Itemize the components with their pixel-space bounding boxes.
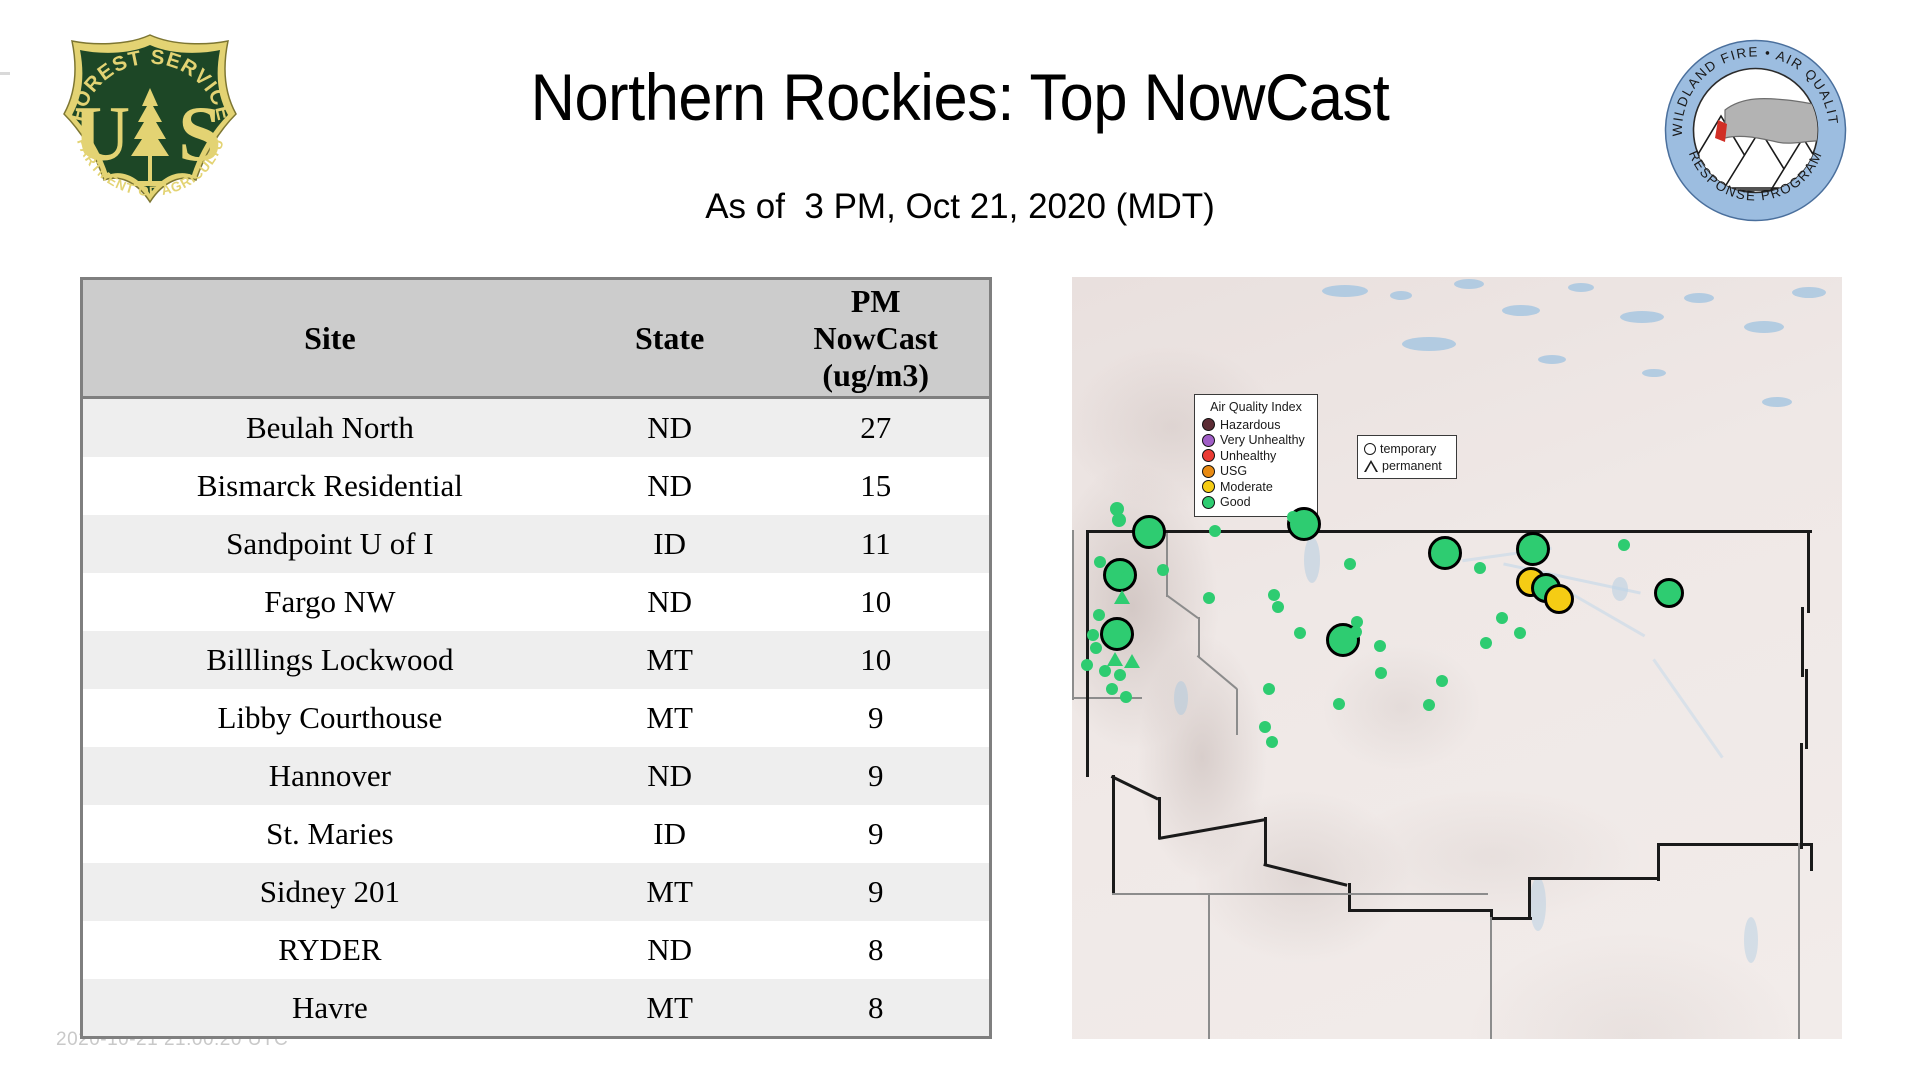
legend-row-moderate: Moderate xyxy=(1202,479,1310,495)
state-cell: ND xyxy=(577,747,763,805)
map-border-state xyxy=(1657,843,1660,881)
nowcast-value-cell: 9 xyxy=(762,805,989,863)
map-border-state xyxy=(1348,883,1351,911)
legend-row-very-unhealthy: Very Unhealthy xyxy=(1202,433,1310,449)
map-border-state xyxy=(1236,689,1238,735)
table-row: HannoverND9 xyxy=(83,747,989,805)
monitor-dot[interactable] xyxy=(1263,683,1275,695)
map-lake xyxy=(1390,291,1412,300)
map-lake xyxy=(1322,285,1368,297)
state-cell: MT xyxy=(577,979,763,1037)
monitor-permanent[interactable] xyxy=(1124,654,1140,668)
monitor-dot[interactable] xyxy=(1093,609,1105,621)
monitor-dot[interactable] xyxy=(1266,736,1278,748)
map-lake xyxy=(1792,287,1826,298)
legend-row-permanent: permanent xyxy=(1364,457,1450,474)
map-border-state xyxy=(1086,627,1089,777)
state-cell: ND xyxy=(577,398,763,458)
aqi-color-swatch-icon xyxy=(1202,480,1215,493)
table-row: HavreMT8 xyxy=(83,979,989,1037)
column-header-pm-line1: PM xyxy=(766,283,985,320)
monitor-sandpoint-u-of-i[interactable] xyxy=(1132,515,1166,549)
table-row: RYDERND8 xyxy=(83,921,989,979)
legend-label: Very Unhealthy xyxy=(1220,433,1305,447)
map-lake xyxy=(1762,397,1792,407)
legend-label: Moderate xyxy=(1220,480,1273,494)
state-cell: ID xyxy=(577,805,763,863)
map-border-state xyxy=(1348,909,1492,912)
legend-label: Unhealthy xyxy=(1220,449,1276,463)
site-cell: Sandpoint U of I xyxy=(83,515,577,573)
legend-monitor-type: temporary permanent xyxy=(1357,435,1457,479)
map-border-state xyxy=(1798,843,1800,1039)
nowcast-value-cell: 11 xyxy=(762,515,989,573)
site-cell: Billlings Lockwood xyxy=(83,631,577,689)
column-header-pm-line3: (ug/m3) xyxy=(766,357,985,394)
map-border-state xyxy=(1528,877,1531,919)
site-cell: St. Maries xyxy=(83,805,577,863)
monitor-ryder[interactable] xyxy=(1516,532,1550,566)
map-border-canada xyxy=(1712,530,1812,533)
page-subtitle-timestamp: As of 3 PM, Oct 21, 2020 (MDT) xyxy=(300,186,1620,228)
monitor-dot[interactable] xyxy=(1272,601,1284,613)
state-cell: ND xyxy=(577,457,763,515)
site-cell: Libby Courthouse xyxy=(83,689,577,747)
map-lake xyxy=(1620,311,1664,323)
legend-row-usg: USG xyxy=(1202,464,1310,480)
map-border-state xyxy=(1158,797,1161,839)
legend-label-temporary: temporary xyxy=(1380,442,1436,456)
site-cell: Sidney 201 xyxy=(83,863,577,921)
legend-air-quality-index: Air Quality Index HazardousVery Unhealth… xyxy=(1194,394,1318,517)
map-lake xyxy=(1530,877,1546,931)
map-border-state xyxy=(1528,877,1531,880)
monitor-dot[interactable] xyxy=(1094,556,1106,568)
svg-text:S: S xyxy=(178,90,221,177)
svg-text:U: U xyxy=(74,90,130,177)
monitor-dot[interactable] xyxy=(1081,659,1093,671)
aqi-color-swatch-icon xyxy=(1202,434,1215,447)
monitor-dot[interactable] xyxy=(1114,669,1126,681)
legend-label: Good xyxy=(1220,495,1251,509)
map-border-state xyxy=(1490,917,1492,1039)
legend-label-permanent: permanent xyxy=(1382,459,1442,473)
map-lake xyxy=(1684,293,1714,303)
map-border-state xyxy=(1112,775,1115,895)
map-lake xyxy=(1538,355,1566,364)
monitor-dot[interactable] xyxy=(1618,539,1630,551)
map-border-state xyxy=(1490,917,1532,920)
nowcast-value-cell: 9 xyxy=(762,747,989,805)
map-terrain-basemap xyxy=(1072,277,1842,1039)
table-row: Sandpoint U of IID11 xyxy=(83,515,989,573)
map-border-canada xyxy=(1086,530,1712,533)
monitor-dot[interactable] xyxy=(1209,525,1221,537)
circle-outline-icon xyxy=(1364,443,1376,455)
monitor-permanent[interactable] xyxy=(1114,590,1130,604)
monitor-dot[interactable] xyxy=(1157,564,1169,576)
monitor-fargo-nw[interactable] xyxy=(1654,578,1684,608)
column-header-state: State xyxy=(577,280,763,398)
map-border-state xyxy=(1112,893,1488,895)
aqi-color-swatch-icon xyxy=(1202,465,1215,478)
monitor-dot[interactable] xyxy=(1294,627,1306,639)
table-body: Beulah NorthND27Bismarck ResidentialND15… xyxy=(83,398,989,1038)
nowcast-value-cell: 10 xyxy=(762,573,989,631)
table-row: Beulah NorthND27 xyxy=(83,398,989,458)
map-border-state xyxy=(1208,895,1210,1039)
map-lake xyxy=(1744,321,1784,333)
site-cell: RYDER xyxy=(83,921,577,979)
map-lake xyxy=(1402,337,1456,351)
legend-row-unhealthy: Unhealthy xyxy=(1202,448,1310,464)
monitor-dot[interactable] xyxy=(1480,637,1492,649)
monitor-dot[interactable] xyxy=(1203,592,1215,604)
slide-canvas: FOREST SERVICE DEPARTMENT OF AGRICULTURE… xyxy=(0,0,1920,1080)
state-cell: MT xyxy=(577,863,763,921)
nowcast-value-cell: 8 xyxy=(762,979,989,1037)
table-row: Bismarck ResidentialND15 xyxy=(83,457,989,515)
monitor-permanent[interactable] xyxy=(1107,652,1123,666)
map-border-state xyxy=(1072,530,1074,700)
monitor-dot[interactable] xyxy=(1436,675,1448,687)
site-cell: Havre xyxy=(83,979,577,1037)
legend-row-good: Good xyxy=(1202,495,1310,511)
monitor-dot[interactable] xyxy=(1344,558,1356,570)
monitor-st-maries[interactable] xyxy=(1100,617,1134,651)
page-title: Northern Rockies: Top NowCast xyxy=(346,58,1574,136)
map-border-state xyxy=(1264,817,1267,865)
column-header-pm-line2: NowCast xyxy=(766,320,985,357)
map-lake xyxy=(1568,283,1594,292)
map-border-state xyxy=(1810,843,1813,871)
legend-title: Air Quality Index xyxy=(1202,400,1310,414)
table-row: Billlings LockwoodMT10 xyxy=(83,631,989,689)
nowcast-value-cell: 8 xyxy=(762,921,989,979)
table-row: Fargo NWND10 xyxy=(83,573,989,631)
monitor-dot[interactable] xyxy=(1106,683,1118,695)
monitor-billlings-lockwood-north[interactable] xyxy=(1428,536,1462,570)
map-border-state xyxy=(1086,530,1089,630)
site-cell: Hannover xyxy=(83,747,577,805)
monitor-dot[interactable] xyxy=(1496,612,1508,624)
legend-label: Hazardous xyxy=(1220,418,1280,432)
monitor-dot[interactable] xyxy=(1514,627,1526,639)
usfs-shield-logo: FOREST SERVICE DEPARTMENT OF AGRICULTURE… xyxy=(48,32,253,224)
map-border-state xyxy=(1805,669,1808,749)
nowcast-value-cell: 27 xyxy=(762,398,989,458)
site-cell: Fargo NW xyxy=(83,573,577,631)
monitor-dot[interactable] xyxy=(1333,698,1345,710)
map-lake xyxy=(1304,537,1320,583)
monitor-dot[interactable] xyxy=(1099,665,1111,677)
state-cell: MT xyxy=(577,689,763,747)
monitor-dot[interactable] xyxy=(1112,513,1126,527)
legend-row-temporary: temporary xyxy=(1364,440,1450,457)
aqi-color-swatch-icon xyxy=(1202,496,1215,509)
map-border-state xyxy=(1800,743,1803,849)
map-border-state xyxy=(1198,617,1200,657)
map-border-state xyxy=(1528,877,1660,880)
slide-edge-marker xyxy=(0,72,10,75)
map-lake xyxy=(1454,279,1484,289)
map-lake xyxy=(1174,681,1188,715)
monitor-dot[interactable] xyxy=(1259,721,1271,733)
monitor-dot[interactable] xyxy=(1474,562,1486,574)
site-cell: Bismarck Residential xyxy=(83,457,577,515)
map-border-state xyxy=(1807,533,1810,613)
map-lake xyxy=(1642,369,1666,377)
aqi-color-swatch-icon xyxy=(1202,449,1215,462)
monitor-dot[interactable] xyxy=(1087,629,1099,641)
monitor-dot[interactable] xyxy=(1287,511,1299,523)
nowcast-value-cell: 10 xyxy=(762,631,989,689)
triangle-outline-icon xyxy=(1364,460,1378,472)
map-border-state xyxy=(1801,607,1804,677)
monitor-dot[interactable] xyxy=(1375,667,1387,679)
monitor-dot[interactable] xyxy=(1268,589,1280,601)
map-lake xyxy=(1744,917,1758,963)
state-cell: MT xyxy=(577,631,763,689)
column-header-site: Site xyxy=(83,280,577,398)
state-cell: ND xyxy=(577,573,763,631)
column-header-pm-nowcast: PM NowCast (ug/m3) xyxy=(762,280,989,398)
monitor-dot[interactable] xyxy=(1374,640,1386,652)
map-border-state xyxy=(1657,843,1813,846)
monitor-bismarck-residential[interactable] xyxy=(1544,584,1574,614)
table-row: Sidney 201MT9 xyxy=(83,863,989,921)
nowcast-value-cell: 15 xyxy=(762,457,989,515)
state-cell: ND xyxy=(577,921,763,979)
map-lake xyxy=(1502,305,1540,316)
top-nowcast-table: Site State PM NowCast (ug/m3) Beulah Nor… xyxy=(80,277,992,1039)
air-quality-monitor-map[interactable]: Air Quality Index HazardousVery Unhealth… xyxy=(1072,277,1842,1039)
table-row: St. MariesID9 xyxy=(83,805,989,863)
state-cell: ID xyxy=(577,515,763,573)
monitor-dot[interactable] xyxy=(1090,642,1102,654)
table-header-row: Site State PM NowCast (ug/m3) xyxy=(83,280,989,398)
monitor-dot[interactable] xyxy=(1423,699,1435,711)
nowcast-value-cell: 9 xyxy=(762,689,989,747)
legend-label: USG xyxy=(1220,464,1247,478)
monitor-dot[interactable] xyxy=(1121,571,1133,583)
site-cell: Beulah North xyxy=(83,398,577,458)
aqi-color-swatch-icon xyxy=(1202,418,1215,431)
monitor-dot[interactable] xyxy=(1350,626,1362,638)
monitor-dot[interactable] xyxy=(1120,691,1132,703)
nowcast-value-cell: 9 xyxy=(762,863,989,921)
legend-row-hazardous: Hazardous xyxy=(1202,417,1310,433)
wildland-fire-air-quality-response-program-logo: WILDLAND FIRE • AIR QUALITY RESPONSE PRO… xyxy=(1663,38,1848,223)
table-row: Libby CourthouseMT9 xyxy=(83,689,989,747)
